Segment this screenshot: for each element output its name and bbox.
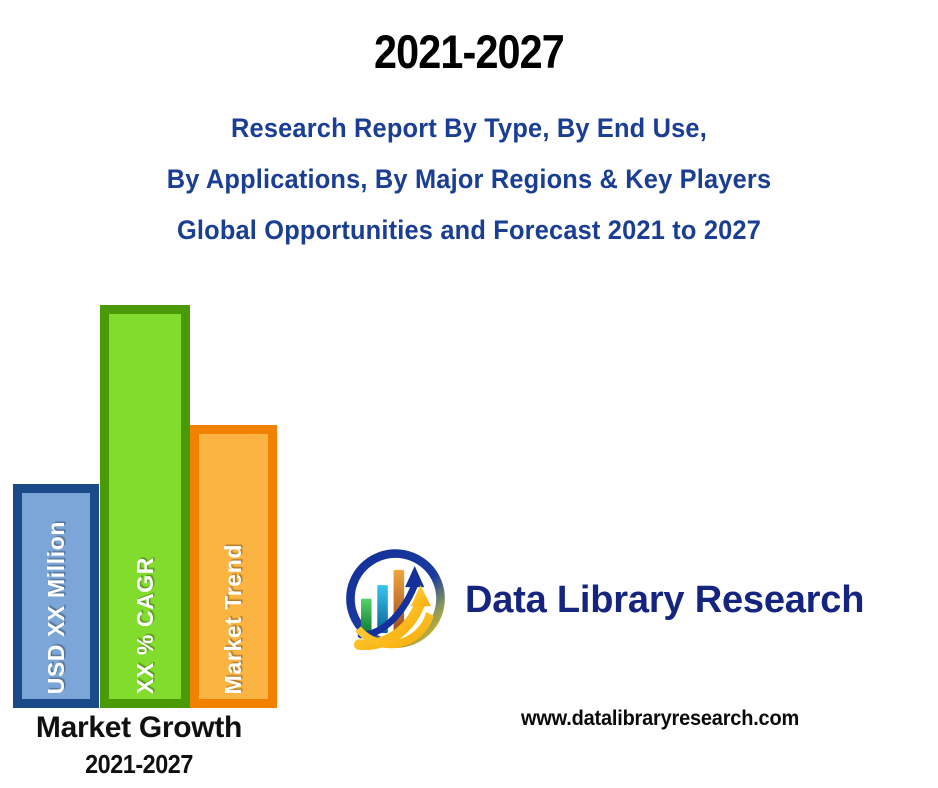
logo-wordmark: Data Library Research	[465, 579, 864, 622]
bar-market-trend-fill	[199, 434, 268, 699]
bar-usd-xx-million: USD XX Million	[13, 484, 99, 708]
data-library-research-logo-icon	[338, 543, 453, 658]
bar-market-trend: Market Trend	[190, 425, 277, 708]
chart-caption-subtitle: 2021-2027	[27, 751, 252, 777]
bar-xx-percent-cagr: XX % CAGR	[100, 305, 190, 708]
report-cover-canvas: 2021-2027 Research Report By Type, By En…	[0, 0, 938, 788]
logo-green-bar	[361, 598, 372, 633]
market-growth-bar-chart: USD XX Million XX % CAGR Market Trend	[0, 0, 300, 788]
company-logo: Data Library Research	[338, 540, 858, 660]
bar-xx-percent-cagr-fill	[109, 314, 181, 699]
bar-usd-xx-million-fill	[22, 493, 90, 699]
website-url: www.datalibraryresearch.com	[451, 707, 869, 731]
chart-caption-title: Market Growth	[14, 713, 264, 743]
